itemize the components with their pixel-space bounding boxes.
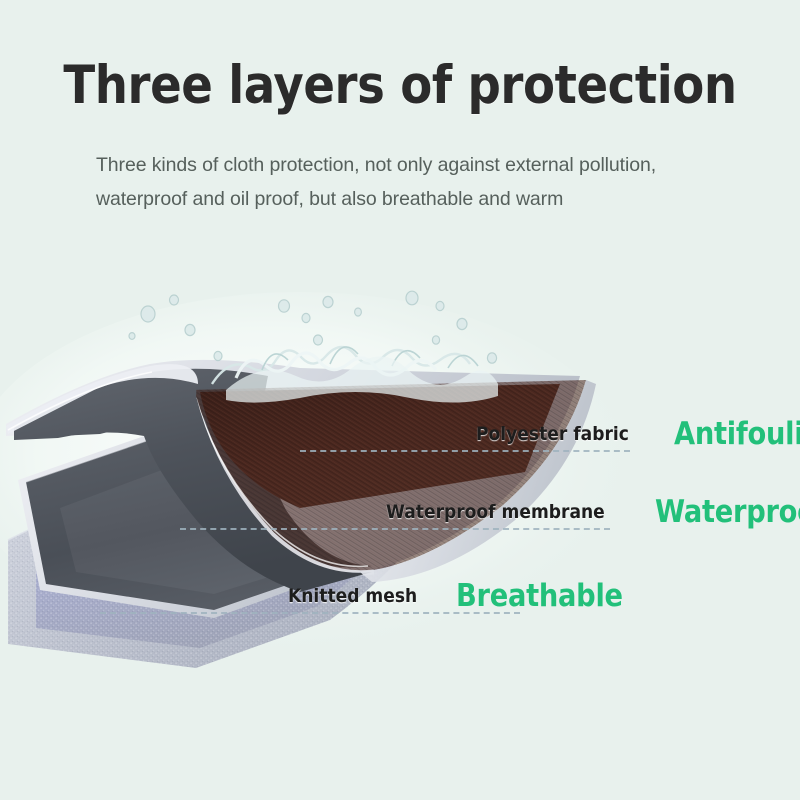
layer-property-waterproof: Waterproof <box>655 494 800 530</box>
callout-row-mesh[interactable]: Knitted mesh Breathable <box>100 574 800 618</box>
layer-name-polyester: Polyester fabric <box>476 423 629 445</box>
page-title: Three layers of protection <box>48 58 752 114</box>
layer-property-breathable: Breathable <box>456 578 623 614</box>
callout-row-membrane[interactable]: Waterproof membrane Waterproof <box>180 490 800 534</box>
callout-row-polyester[interactable]: Polyester fabric Antifouling <box>300 412 800 456</box>
leader-line-membrane <box>180 528 610 530</box>
layer-name-membrane: Waterproof membrane <box>386 501 605 523</box>
infographic-page: Three layers of protection Three kinds o… <box>0 0 800 800</box>
layer-property-antifouling: Antifouling <box>674 416 800 452</box>
page-subtitle: Three kinds of cloth protection, not onl… <box>96 148 696 216</box>
layer-name-mesh: Knitted mesh <box>288 585 417 607</box>
leader-line-polyester <box>300 450 630 452</box>
